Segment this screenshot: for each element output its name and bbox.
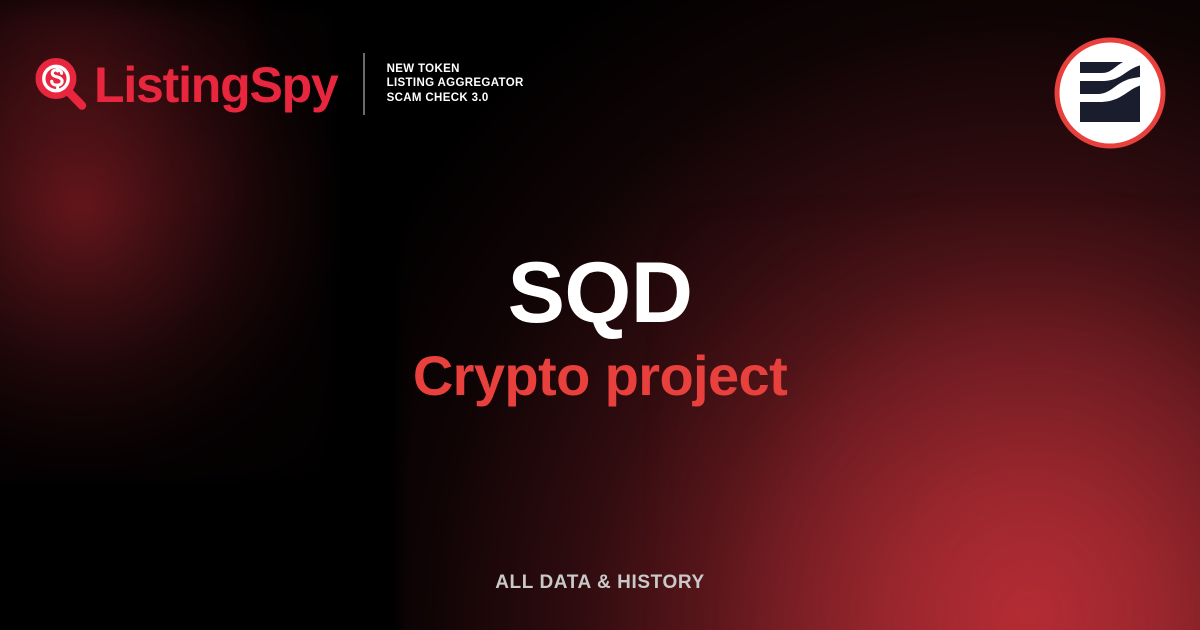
brand-wordmark: ListingSpy <box>94 60 338 110</box>
header: ListingSpy NEW TOKEN LISTING AGGREGATOR … <box>32 48 524 120</box>
magnifier-dollar-icon <box>32 56 88 112</box>
tagline-line-3: SCAM CHECK 3.0 <box>387 92 524 106</box>
og-card: ListingSpy NEW TOKEN LISTING AGGREGATOR … <box>0 0 1200 630</box>
hero-section: SQD Crypto project <box>0 246 1200 408</box>
sqd-wave-square-logo-icon <box>1054 37 1166 149</box>
page-title: SQD <box>0 246 1200 340</box>
page-subtitle: Crypto project <box>0 344 1200 408</box>
tagline-line-2: LISTING AGGREGATOR <box>387 77 524 91</box>
tagline-line-1: NEW TOKEN <box>387 63 524 77</box>
footer-caption: ALL DATA & HISTORY <box>0 571 1200 595</box>
brand-logo[interactable]: ListingSpy <box>32 56 338 112</box>
brand-tagline: NEW TOKEN LISTING AGGREGATOR SCAM CHECK … <box>387 63 524 106</box>
header-divider <box>363 53 365 115</box>
footer-section: ALL DATA & HISTORY <box>0 571 1200 595</box>
token-logo-badge <box>1054 37 1166 149</box>
